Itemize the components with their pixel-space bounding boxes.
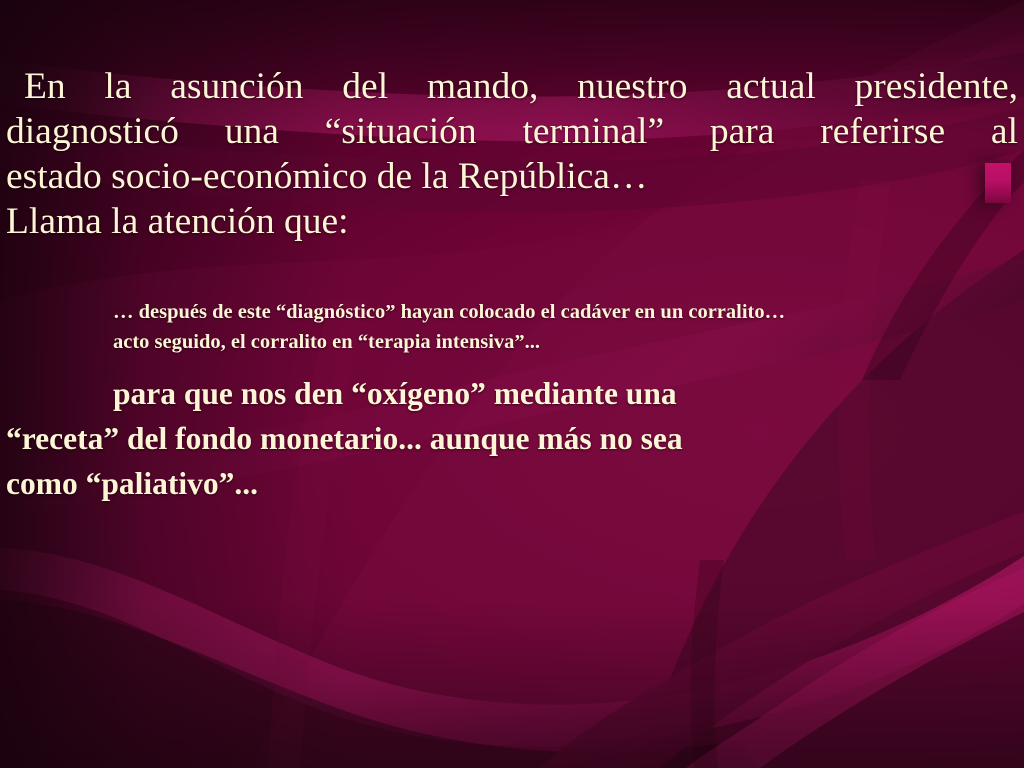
slide-content: En la asunción del mando, nuestro actual…	[0, 0, 1024, 768]
body-line-4: Llama la atención que:	[6, 201, 349, 242]
body-line-1: En la asunción del mando, nuestro actual…	[24, 66, 1018, 107]
presentation-slide: En la asunción del mando, nuestro actual…	[0, 0, 1024, 768]
emph-line-2: “receta” del fondo monetario... aunque m…	[6, 421, 683, 456]
sub-line-2: acto seguido, el corralito en “terapia i…	[113, 331, 540, 353]
emph-line-1: para que nos den “oxígeno” mediante una	[113, 376, 677, 411]
body-level2-block: para que nos den “oxígeno” mediante una …	[6, 371, 1018, 506]
sub-line-1: … después de este “diagnóstico” hayan co…	[113, 301, 785, 323]
body-level1-block: En la asunción del mando, nuestro actual…	[6, 64, 1018, 244]
body-line-2: diagnosticó una “situación terminal” par…	[6, 111, 1018, 152]
body-line-3: estado socio-económico de la República…	[6, 156, 647, 197]
emph-line-3: como “paliativo”...	[6, 466, 258, 501]
body-level3-block: … después de este “diagnóstico” hayan co…	[113, 297, 993, 357]
